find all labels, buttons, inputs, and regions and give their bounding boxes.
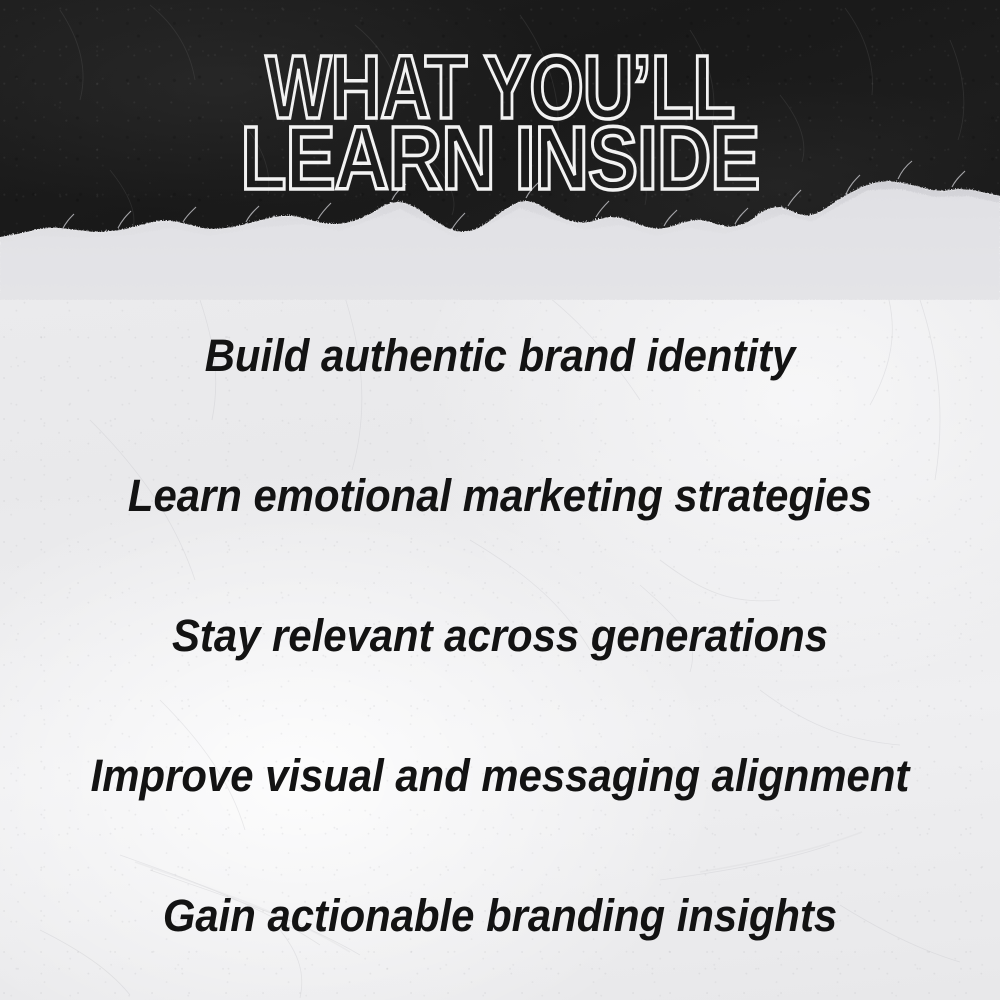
list-item: Improve visual and messaging alignment xyxy=(35,706,965,846)
list-item: Stay relevant across generations xyxy=(35,566,965,706)
poster-canvas: WHAT YOU’LL LEARN INSIDE Build authentic… xyxy=(0,0,1000,1000)
title-line-2: LEARN INSIDE xyxy=(5,117,995,201)
list-item: Build authentic brand identity xyxy=(35,286,965,426)
list-item: Gain actionable branding insights xyxy=(35,846,965,986)
list-item: Learn emotional marketing strategies xyxy=(35,426,965,566)
learning-points-list: Build authentic brand identity Learn emo… xyxy=(0,286,1000,986)
page-title: WHAT YOU’LL LEARN INSIDE xyxy=(0,46,1000,189)
